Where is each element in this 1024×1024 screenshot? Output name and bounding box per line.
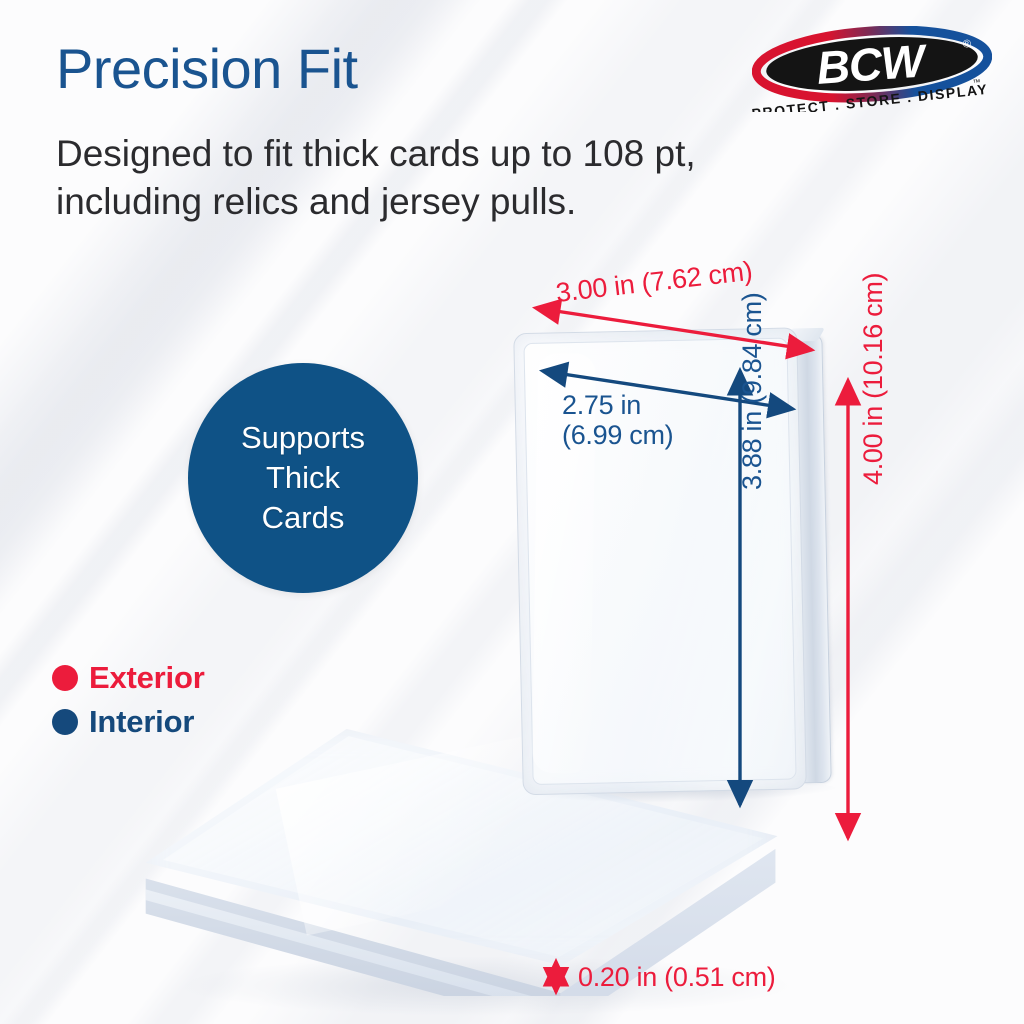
interior-height-label: 3.88 in (9.84 cm) bbox=[737, 293, 768, 491]
legend-item-exterior: Exterior bbox=[52, 660, 205, 696]
svg-text:BCW: BCW bbox=[815, 34, 930, 94]
thickness-label: 0.20 in (0.51 cm) bbox=[578, 962, 776, 993]
legend-label-exterior: Exterior bbox=[89, 660, 205, 696]
page-title: Precision Fit bbox=[56, 40, 358, 99]
interior-legend-dot bbox=[52, 709, 78, 735]
badge-line-1: Supports bbox=[241, 418, 365, 458]
description-line-2: including relics and jersey pulls. bbox=[56, 178, 916, 226]
bcw-logo-icon: BCW ® PROTECT . STORE . DISPLAY ™ bbox=[752, 26, 992, 112]
page-description: Designed to fit thick cards up to 108 pt… bbox=[56, 130, 916, 226]
interior-width-label-line-1: 2.75 in bbox=[562, 390, 673, 420]
exterior-legend-dot bbox=[52, 665, 78, 691]
interior-width-label: 2.75 in (6.99 cm) bbox=[562, 390, 673, 450]
badge-line-3: Cards bbox=[262, 498, 345, 538]
bcw-logo: BCW ® PROTECT . STORE . DISPLAY ™ bbox=[752, 26, 992, 112]
badge-line-2: Thick bbox=[266, 458, 340, 498]
description-line-1: Designed to fit thick cards up to 108 pt… bbox=[56, 130, 916, 178]
infographic-canvas: Precision Fit Designed to fit thick card… bbox=[0, 0, 1024, 1024]
supports-thick-cards-badge: Supports Thick Cards bbox=[188, 363, 418, 593]
exterior-height-label: 4.00 in (10.16 cm) bbox=[858, 273, 889, 485]
svg-text:™: ™ bbox=[972, 78, 981, 88]
svg-text:®: ® bbox=[962, 38, 971, 51]
interior-width-label-line-2: (6.99 cm) bbox=[562, 420, 673, 450]
